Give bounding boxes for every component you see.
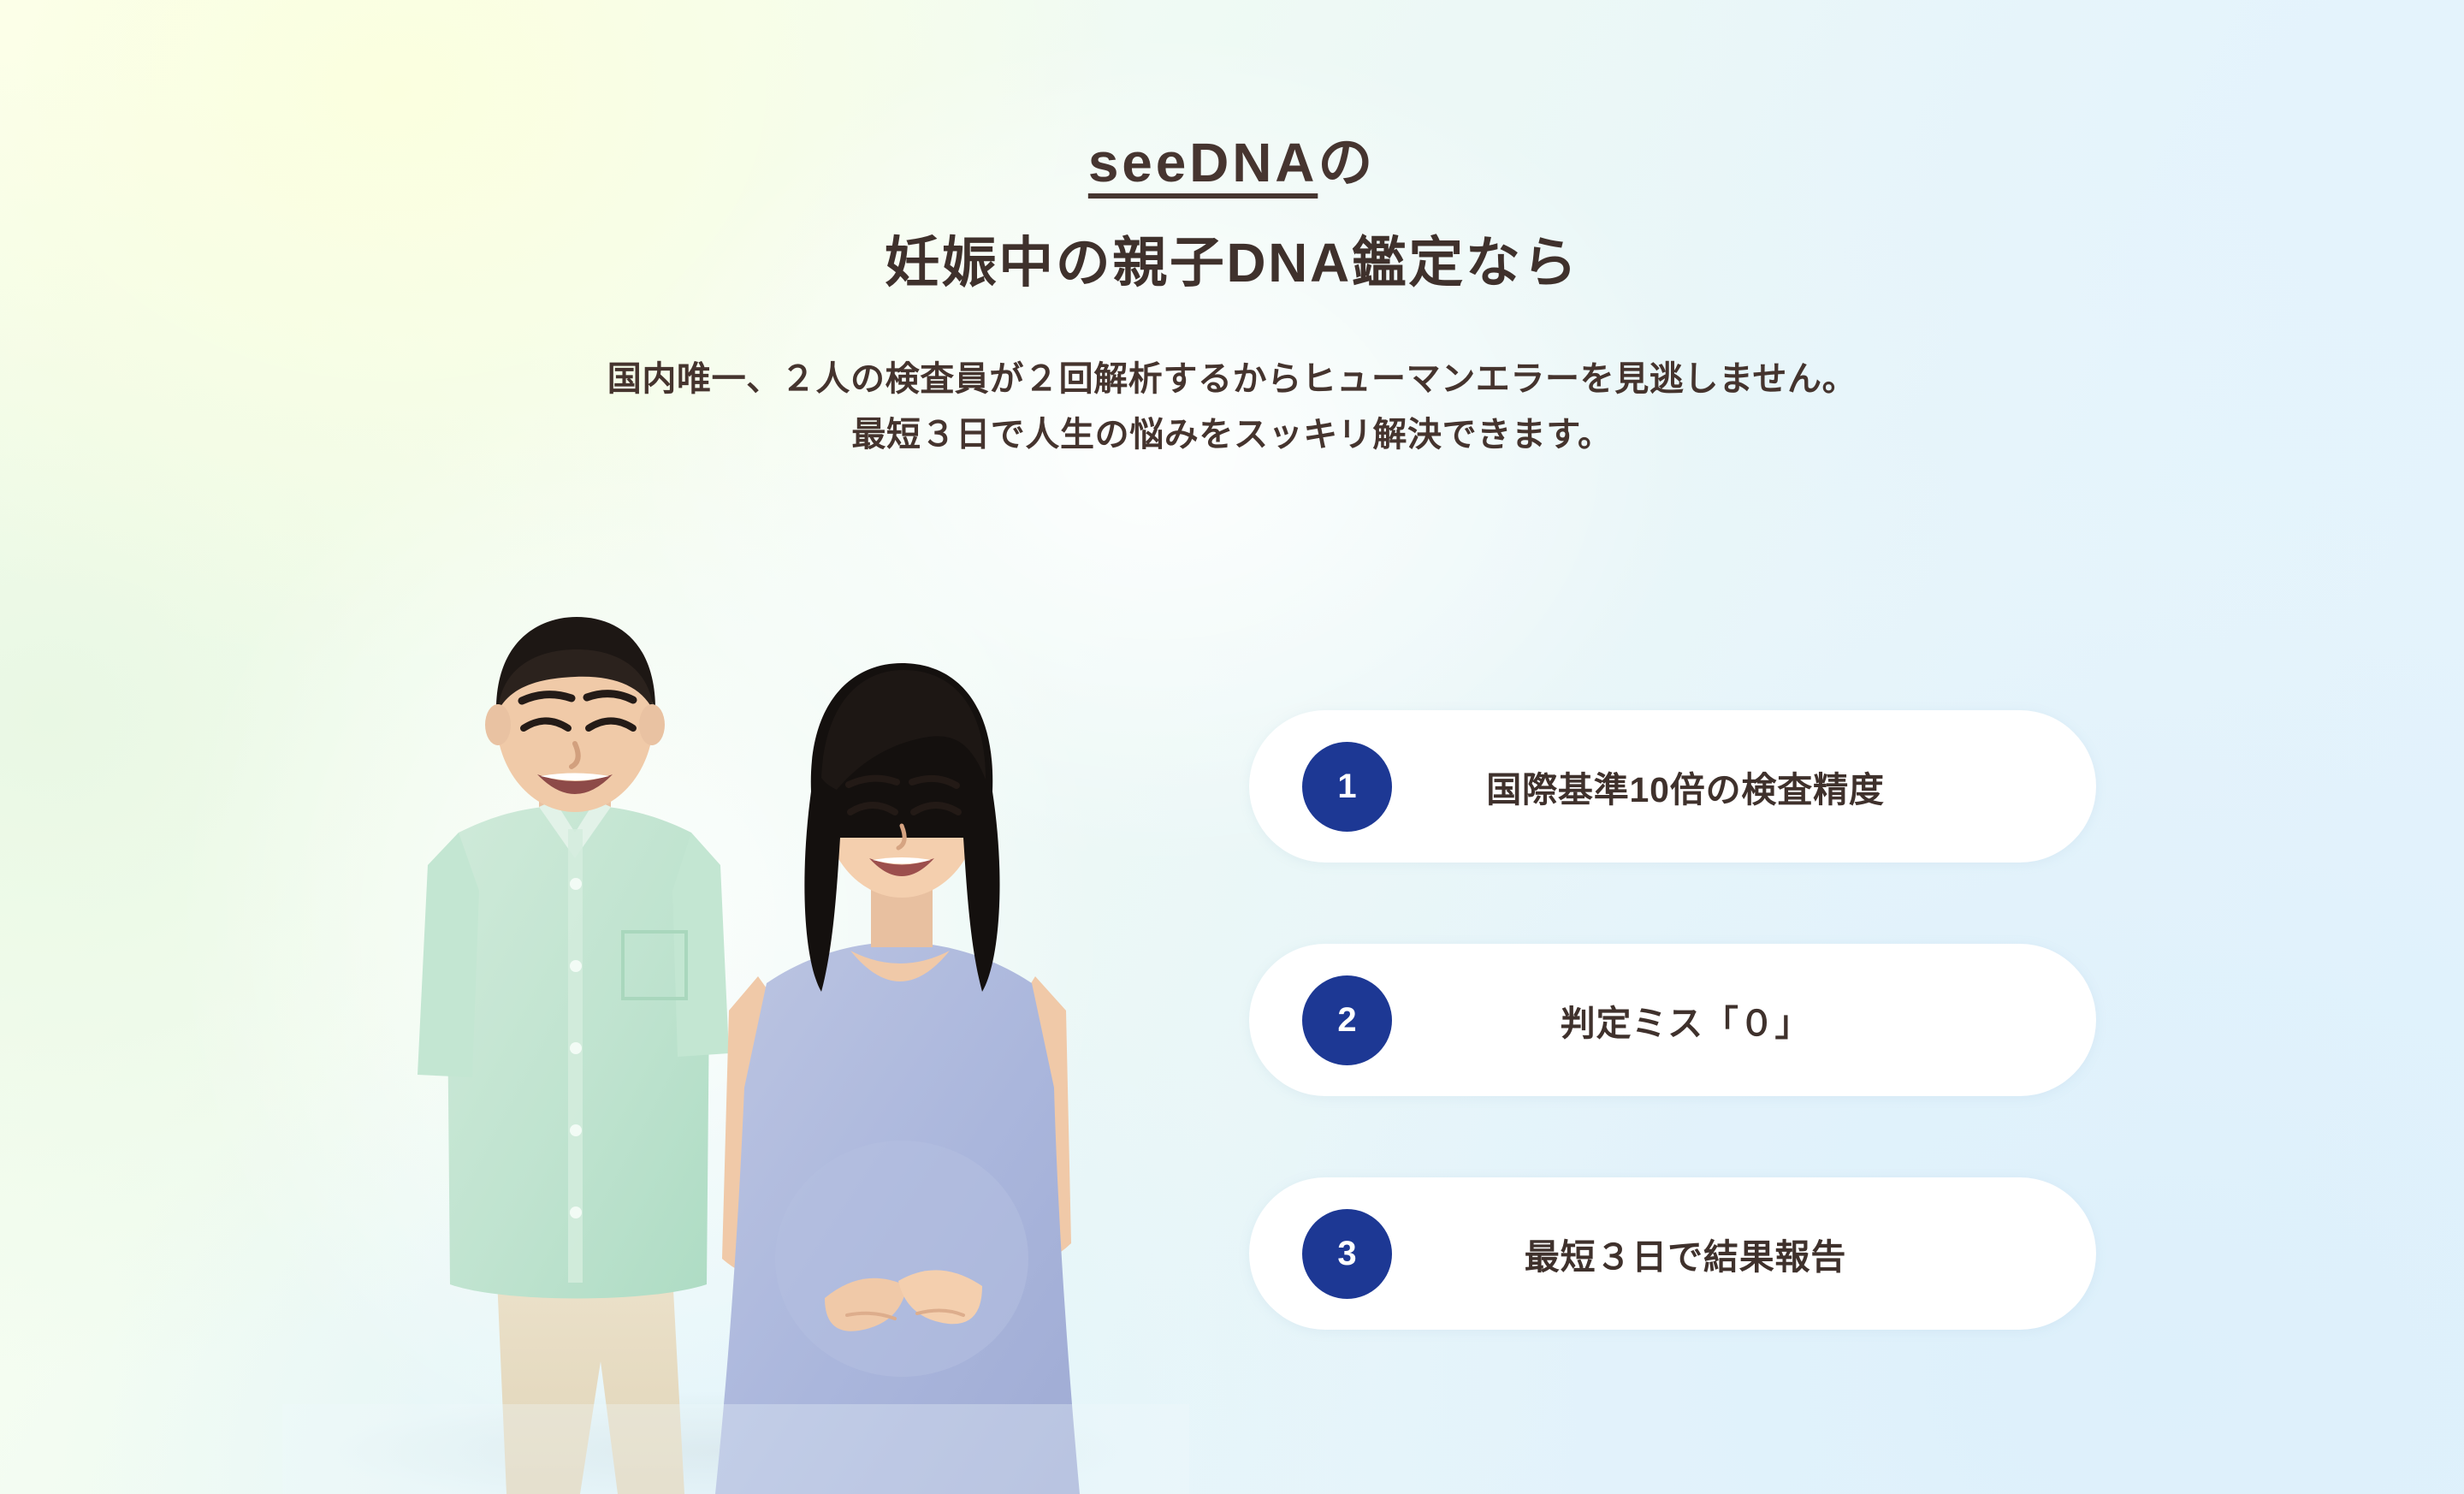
- hero-section: seeDNAの 妊娠中の親子DNA鑑定なら 国内唯一、２人の検査員が２回解析する…: [0, 0, 2464, 1494]
- photo-figure-woman: [715, 663, 1080, 1494]
- hero-heading-block: seeDNAの 妊娠中の親子DNA鑑定なら 国内唯一、２人の検査員が２回解析する…: [0, 128, 2464, 463]
- feature-card-2[interactable]: 2 判定ミス「０」: [1249, 944, 2096, 1096]
- hero-subtitle-line-2: 最短３日で人生の悩みをスッキリ解決できます。: [0, 407, 2464, 463]
- feature-card-2-number-badge: 2: [1302, 975, 1392, 1065]
- hero-title-line-1-suffix: の: [1318, 132, 1376, 193]
- hero-subtitle-block: 国内唯一、２人の検査員が２回解析するからヒューマンエラーを見逃しません。 最短３…: [0, 352, 2464, 463]
- feature-card-list: 1 国際基準10倍の検査精度 2 判定ミス「０」 3 最短３日で結果報告: [1249, 710, 2096, 1330]
- brand-name-seedna: seeDNA: [1088, 132, 1318, 193]
- hero-subtitle-line-1: 国内唯一、２人の検査員が２回解析するからヒューマンエラーを見逃しません。: [0, 352, 2464, 407]
- feature-card-1[interactable]: 1 国際基準10倍の検査精度: [1249, 710, 2096, 863]
- feature-card-1-number-badge: 1: [1302, 742, 1392, 832]
- couple-photo: [282, 608, 1189, 1494]
- feature-card-3[interactable]: 3 最短３日で結果報告: [1249, 1177, 2096, 1330]
- hero-title-line-1: seeDNAの: [0, 128, 2464, 197]
- hero-title-line-2: 妊娠中の親子DNA鑑定なら: [0, 228, 2464, 299]
- feature-card-3-number-badge: 3: [1302, 1209, 1392, 1299]
- photo-figure-man: [418, 617, 729, 1494]
